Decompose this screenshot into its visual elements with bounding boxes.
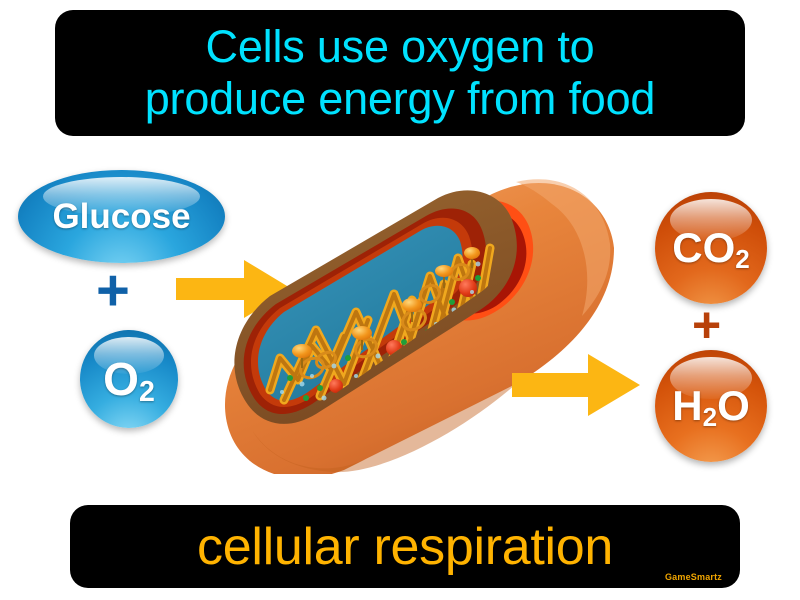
definition-banner: Cells use oxygen to produce energy from …: [55, 10, 745, 136]
oxygen-label: O2: [103, 356, 155, 402]
term-text: cellular respiration: [197, 519, 613, 575]
water-token: H2O: [655, 350, 767, 462]
co2-label: CO2: [672, 227, 749, 269]
term-banner: cellular respiration GameSmartz: [70, 505, 740, 588]
definition-text: Cells use oxygen to produce energy from …: [145, 21, 656, 125]
plus-sign-reactants: +: [96, 262, 130, 320]
glucose-token: Glucose: [18, 170, 225, 263]
watermark-label: GameSmartz: [665, 572, 722, 582]
carbon-dioxide-token: CO2: [655, 192, 767, 304]
glucose-label: Glucose: [52, 199, 190, 234]
oxygen-token: O2: [80, 330, 178, 428]
mitochondrion-illustration: [216, 152, 616, 474]
h2o-label: H2O: [672, 385, 750, 427]
output-arrow-icon: [512, 352, 640, 418]
plus-sign-products: +: [692, 300, 721, 350]
